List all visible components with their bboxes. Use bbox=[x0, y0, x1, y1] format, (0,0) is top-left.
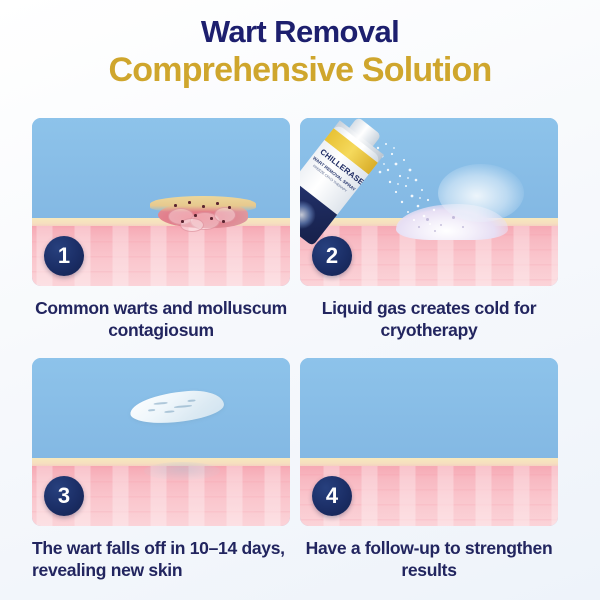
step-card-1: 1 Common warts and molluscum contagiosum bbox=[32, 118, 300, 358]
title-line-primary: Wart Removal bbox=[0, 16, 600, 49]
step-number-badge-4: 4 bbox=[312, 476, 352, 516]
step-3-illustration: 3 bbox=[32, 358, 290, 526]
title-line-secondary: Comprehensive Solution bbox=[0, 51, 600, 89]
infographic-page: Wart Removal Comprehensive Solution bbox=[0, 0, 600, 600]
step-1-caption: Common warts and molluscum contagiosum bbox=[32, 298, 290, 341]
step-card-2: CHILLERASE WART REMOVAL SPRAY FREEZE CRY… bbox=[300, 118, 568, 358]
step-number-badge-3: 3 bbox=[44, 476, 84, 516]
step-2-caption: Liquid gas creates cold for cryotherapy bbox=[300, 298, 558, 341]
step-number-badge-1: 1 bbox=[44, 236, 84, 276]
wart-lesion-icon bbox=[150, 196, 256, 236]
healing-skin-shadow bbox=[144, 462, 220, 480]
step-number-badge-2: 2 bbox=[312, 236, 352, 276]
step-4-illustration: 4 bbox=[300, 358, 558, 526]
steps-grid: 1 Common warts and molluscum contagiosum bbox=[32, 118, 568, 598]
air-region bbox=[300, 358, 558, 462]
step-3-caption: The wart falls off in 10–14 days, reveal… bbox=[32, 538, 290, 581]
page-title: Wart Removal Comprehensive Solution bbox=[0, 16, 600, 89]
step-2-illustration: CHILLERASE WART REMOVAL SPRAY FREEZE CRY… bbox=[300, 118, 558, 286]
step-card-4: 4 Have a follow-up to strengthen results bbox=[300, 358, 568, 598]
step-4-caption: Have a follow-up to strengthen results bbox=[300, 538, 558, 581]
step-card-3: 3 The wart falls off in 10–14 days, reve… bbox=[32, 358, 300, 598]
step-1-illustration: 1 bbox=[32, 118, 290, 286]
